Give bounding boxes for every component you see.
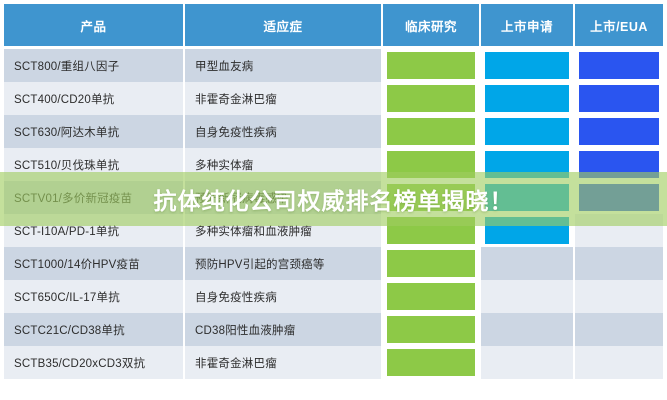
column-header-clinical[interactable]: 临床研究 xyxy=(383,4,479,46)
cell-indication: 自身免疫性疾病 xyxy=(185,280,381,313)
cell-indication: 预防HPV引起的宫颈癌等 xyxy=(185,247,381,280)
status-bar-clinical-active xyxy=(387,52,475,79)
product-label: SCT-I10A/PD-1单抗 xyxy=(4,214,183,247)
cell-indication: 自身免疫性疾病 xyxy=(185,115,381,148)
status-bar-approved-active xyxy=(579,151,659,178)
status-bar-approved-inactive xyxy=(575,214,663,247)
table-row[interactable]: SCT510/贝伐珠单抗多种实体瘤 xyxy=(0,148,667,181)
product-label: SCTB35/CD20xCD3双抗 xyxy=(4,346,183,379)
table-row[interactable]: SCT650C/IL-17单抗自身免疫性疾病 xyxy=(0,280,667,313)
status-bar-filing-active xyxy=(485,85,569,112)
product-label: SCT650C/IL-17单抗 xyxy=(4,280,183,313)
indication-label: 自身免疫性疾病 xyxy=(185,115,381,148)
indication-label: 非霍奇金淋巴瘤 xyxy=(185,346,381,379)
cell-indication: 非霍奇金淋巴瘤 xyxy=(185,82,381,115)
cell-indication: 甲型血友病 xyxy=(185,49,381,82)
product-label: SCT630/阿达木单抗 xyxy=(4,115,183,148)
status-bar-clinical-active xyxy=(387,151,475,178)
status-bar-filing-active xyxy=(485,217,569,244)
table-header-row: 产品适应症临床研究上市申请上市/EUA xyxy=(0,4,667,46)
status-bar-clinical-active xyxy=(387,217,475,244)
status-bar-clinical-active xyxy=(387,85,475,112)
status-bar-approved-inactive xyxy=(575,280,663,313)
status-bar-clinical-active xyxy=(387,349,475,376)
cell-indication: 多种实体瘤 xyxy=(185,148,381,181)
column-header-filing[interactable]: 上市申请 xyxy=(481,4,573,46)
indication-label: 自身免疫性疾病 xyxy=(185,280,381,313)
product-label: SCT400/CD20单抗 xyxy=(4,82,183,115)
status-bar-clinical-active xyxy=(387,250,475,277)
status-bar-clinical-active xyxy=(387,118,475,145)
cell-indication: 预防新冠病毒感染 xyxy=(185,181,381,214)
indication-label: 预防新冠病毒感染 xyxy=(185,181,381,214)
cell-product: SCT650C/IL-17单抗 xyxy=(4,280,183,313)
status-bar-approved-active xyxy=(579,184,659,211)
table-row[interactable]: SCTC21C/CD38单抗CD38阳性血液肿瘤 xyxy=(0,313,667,346)
cell-product: SCT-I10A/PD-1单抗 xyxy=(4,214,183,247)
cell-product: SCT800/重组八因子 xyxy=(4,49,183,82)
cell-product: SCTC21C/CD38单抗 xyxy=(4,313,183,346)
cell-indication: 多种实体瘤和血液肿瘤 xyxy=(185,214,381,247)
status-bar-filing-inactive xyxy=(481,280,573,313)
indication-label: 预防HPV引起的宫颈癌等 xyxy=(185,247,381,280)
status-bar-approved-inactive xyxy=(575,313,663,346)
status-bar-approved-inactive xyxy=(575,247,663,280)
status-bar-filing-active xyxy=(485,52,569,79)
cell-product: SCT630/阿达木单抗 xyxy=(4,115,183,148)
product-pipeline-table: 产品适应症临床研究上市申请上市/EUA SCT800/重组八因子甲型血友病SCT… xyxy=(0,0,667,400)
status-bar-clinical-active xyxy=(387,283,475,310)
table-row[interactable]: SCTV01/多价新冠疫苗预防新冠病毒感染 xyxy=(0,181,667,214)
status-bar-approved-active xyxy=(579,85,659,112)
cell-indication: CD38阳性血液肿瘤 xyxy=(185,313,381,346)
product-label: SCT510/贝伐珠单抗 xyxy=(4,148,183,181)
status-bar-approved-active xyxy=(579,52,659,79)
cell-indication: 非霍奇金淋巴瘤 xyxy=(185,346,381,379)
product-label: SCT1000/14价HPV疫苗 xyxy=(4,247,183,280)
status-bar-filing-active xyxy=(485,151,569,178)
status-bar-clinical-active xyxy=(387,316,475,343)
cell-product: SCT1000/14价HPV疫苗 xyxy=(4,247,183,280)
status-bar-filing-inactive xyxy=(481,313,573,346)
status-bar-filing-inactive xyxy=(481,247,573,280)
column-header-approved[interactable]: 上市/EUA xyxy=(575,4,663,46)
indication-label: 多种实体瘤 xyxy=(185,148,381,181)
table-row[interactable]: SCTB35/CD20xCD3双抗非霍奇金淋巴瘤 xyxy=(0,346,667,379)
table-row[interactable]: SCT400/CD20单抗非霍奇金淋巴瘤 xyxy=(0,82,667,115)
status-bar-filing-active xyxy=(485,118,569,145)
cell-product: SCTV01/多价新冠疫苗 xyxy=(4,181,183,214)
table-row[interactable]: SCT630/阿达木单抗自身免疫性疾病 xyxy=(0,115,667,148)
cell-product: SCT510/贝伐珠单抗 xyxy=(4,148,183,181)
indication-label: 甲型血友病 xyxy=(185,49,381,82)
column-header-indication[interactable]: 适应症 xyxy=(185,4,381,46)
status-bar-approved-inactive xyxy=(575,346,663,379)
status-bar-filing-inactive xyxy=(481,346,573,379)
table-row[interactable]: SCT1000/14价HPV疫苗预防HPV引起的宫颈癌等 xyxy=(0,247,667,280)
product-label: SCT800/重组八因子 xyxy=(4,49,183,82)
status-bar-clinical-active xyxy=(387,184,475,211)
indication-label: 非霍奇金淋巴瘤 xyxy=(185,82,381,115)
table-row[interactable]: SCT-I10A/PD-1单抗多种实体瘤和血液肿瘤 xyxy=(0,214,667,247)
product-label: SCTC21C/CD38单抗 xyxy=(4,313,183,346)
product-label: SCTV01/多价新冠疫苗 xyxy=(4,181,183,214)
status-bar-approved-active xyxy=(579,118,659,145)
cell-product: SCT400/CD20单抗 xyxy=(4,82,183,115)
table-row[interactable]: SCT800/重组八因子甲型血友病 xyxy=(0,49,667,82)
indication-label: CD38阳性血液肿瘤 xyxy=(185,313,381,346)
column-header-product[interactable]: 产品 xyxy=(4,4,183,46)
cell-product: SCTB35/CD20xCD3双抗 xyxy=(4,346,183,379)
status-bar-filing-active xyxy=(485,184,569,211)
indication-label: 多种实体瘤和血液肿瘤 xyxy=(185,214,381,247)
